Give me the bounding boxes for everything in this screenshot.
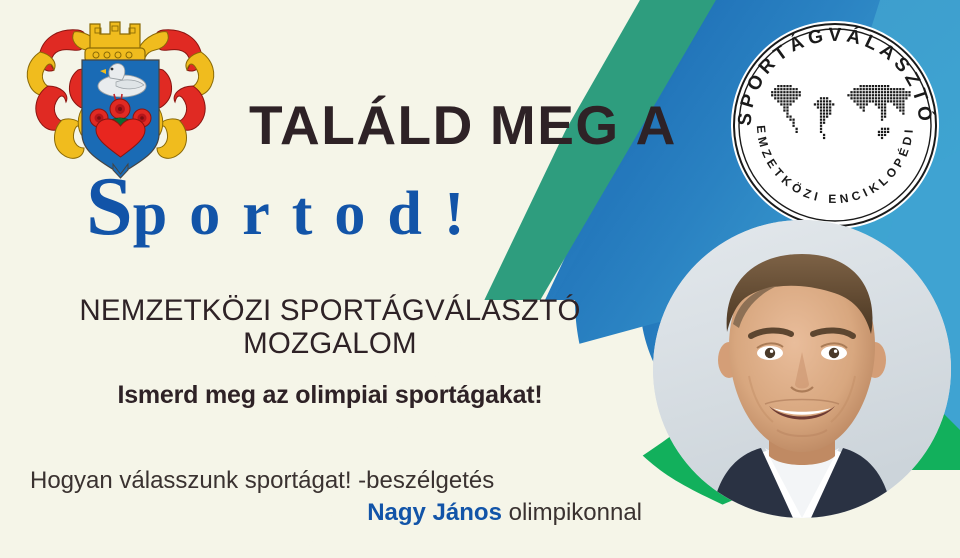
portrait-nagy-janos [653,220,951,518]
rose-center-icon [110,99,130,119]
headline-exclamation: ! [444,180,465,248]
headline-word-3: A [636,94,677,156]
footer-line-2: Nagy János olimpikonnal [26,497,656,529]
crown-icon [85,22,145,62]
headline-word-1: TALÁLD [249,94,474,156]
poster-canvas: SPORTÁGVÁLASZTÓ NEMZETKÖZI ENCIKLOPÉDIA [0,0,960,558]
headline-word-2: MEG [490,94,620,156]
tagline-olympic-sports: Ismerd meg az olimpiai sportágakat! [30,381,630,410]
speaker-name: Nagy János [367,499,502,526]
footer-event-info: Hogyan válasszunk sportágat! -beszélgeté… [26,465,656,529]
coat-of-arms-kecskemet [18,12,223,184]
headline-cap-letter: S [86,160,133,253]
footer-line-1: Hogyan válasszunk sportágat! -beszélgeté… [26,465,656,497]
headline-primary: TALÁLDMEGA [249,93,677,157]
headline-sportod: Sportod! [86,165,465,249]
headline-rest-letters: portod [133,180,444,248]
subtitle-movement: NEMZETKÖZI SPORTÁGVÁLASZTÓ MOZGALOM [30,294,630,361]
speaker-suffix: olimpikonnal [502,499,642,526]
sportagvalaszto-seal[interactable]: SPORTÁGVÁLASZTÓ NEMZETKÖZI ENCIKLOPÉDIA [729,19,941,231]
